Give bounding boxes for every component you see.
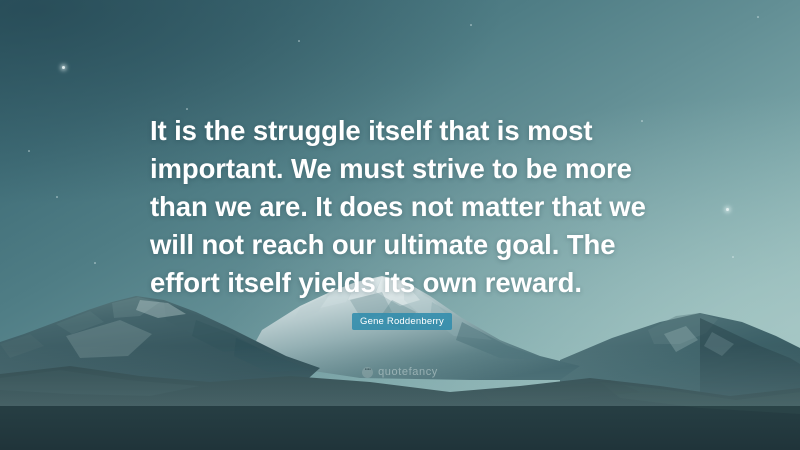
author-badge[interactable]: Gene Roddenberry: [352, 313, 452, 330]
author-name: Gene Roddenberry: [360, 316, 444, 327]
brand-name: quotefancy: [378, 366, 438, 378]
quote-marks-glyph: ““: [365, 368, 371, 375]
quote-line: effort itself yields its own reward.: [150, 264, 670, 302]
quote-line: It is the struggle itself that is most: [150, 112, 670, 150]
quote-poster: It is the struggle itself that is most i…: [0, 0, 800, 450]
quotefancy-watermark[interactable]: ““ quotefancy: [0, 366, 800, 378]
quote-text: It is the struggle itself that is most i…: [150, 112, 670, 302]
quote-line: will not reach our ultimate goal. The: [150, 226, 670, 264]
quote-line: than we are. It does not matter that we: [150, 188, 670, 226]
quote-marks-icon: ““: [362, 367, 373, 378]
quote-line: important. We must strive to be more: [150, 150, 670, 188]
